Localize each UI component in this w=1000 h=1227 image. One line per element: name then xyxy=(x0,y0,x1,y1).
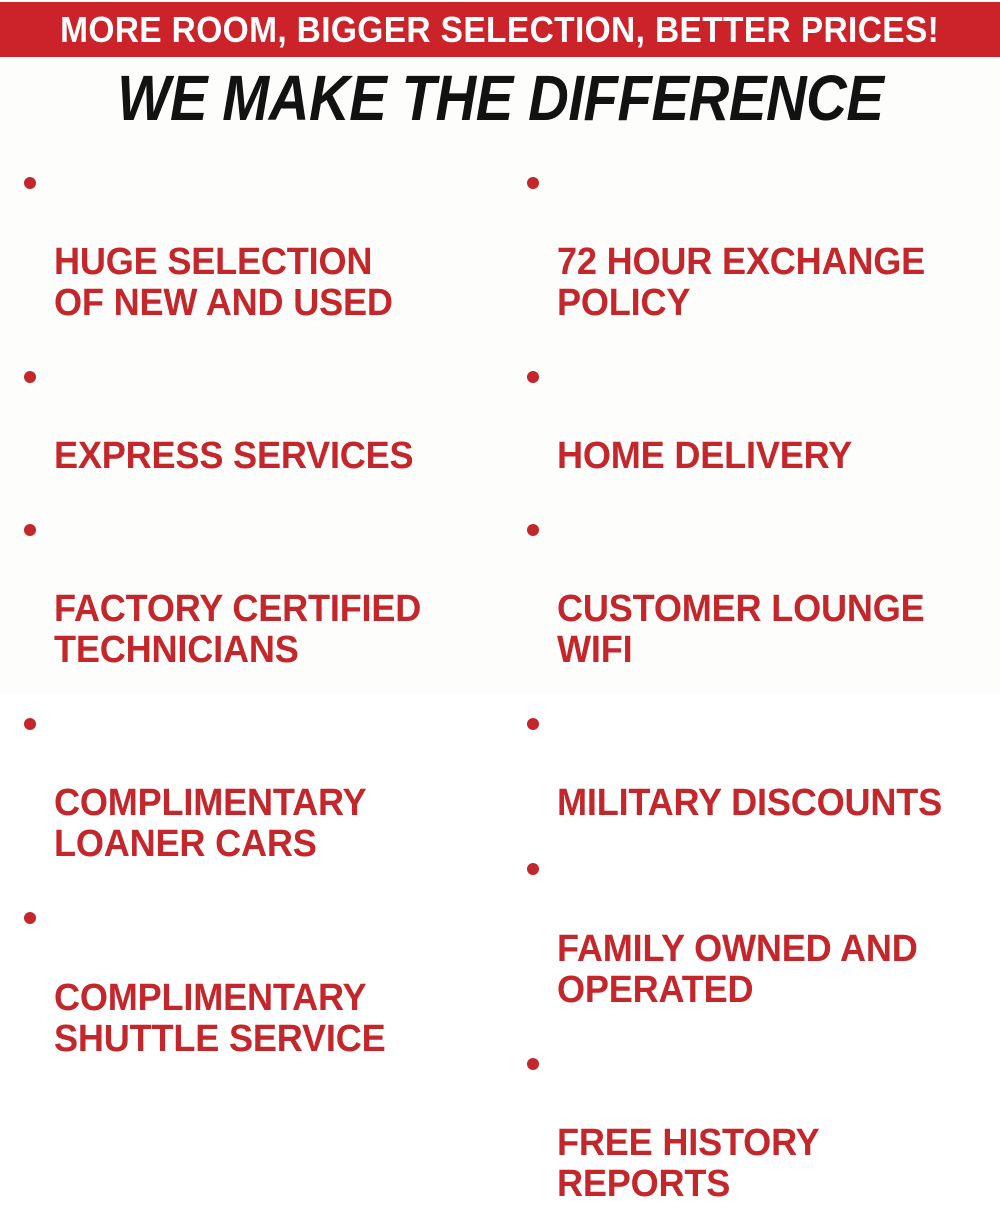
bullet-dot-icon xyxy=(527,1058,539,1070)
bullet-dot-icon xyxy=(527,863,539,875)
list-item: EXPRESS SERVICES xyxy=(16,354,501,477)
list-item: FAMILY OWNED AND OPERATED xyxy=(519,846,998,1010)
list-item: HOME DELIVERY xyxy=(519,354,998,477)
promo-banner: MORE ROOM, BIGGER SELECTION, BETTER PRIC… xyxy=(0,2,1000,57)
list-item: CUSTOMER LOUNGE WIFI xyxy=(519,507,998,671)
list-item-label: EXPRESS SERVICES xyxy=(54,436,413,477)
bullet-dot-icon xyxy=(527,524,539,536)
list-item: HUGE SELECTION OF NEW AND USED xyxy=(16,160,501,324)
list-item-label: HUGE SELECTION OF NEW AND USED xyxy=(54,242,393,324)
list-item-label: COMPLIMENTARY LOANER CARS xyxy=(54,783,366,865)
bullet-dot-icon xyxy=(24,524,36,536)
benefits-columns: HUGE SELECTION OF NEW AND USED EXPRESS S… xyxy=(0,160,1000,694)
bullet-dot-icon xyxy=(24,718,36,730)
list-item: FACTORY CERTIFIED TECHNICIANS xyxy=(16,507,501,671)
bullet-dot-icon xyxy=(527,177,539,189)
list-item-label: FACTORY CERTIFIED TECHNICIANS xyxy=(54,589,421,671)
list-item-label: FREE HISTORY REPORTS xyxy=(557,1123,819,1205)
list-item-label: FAMILY OWNED AND OPERATED xyxy=(557,929,918,1011)
list-item-label: HOME DELIVERY xyxy=(557,436,852,477)
list-item: COMPLIMENTARY SHUTTLE SERVICE xyxy=(16,895,501,1059)
list-item: COMPLIMENTARY LOANER CARS xyxy=(16,701,501,865)
bullet-dot-icon xyxy=(527,371,539,383)
list-item-label: 72 HOUR EXCHANGE POLICY xyxy=(557,242,925,324)
dealership-benefits-poster: MORE ROOM, BIGGER SELECTION, BETTER PRIC… xyxy=(0,0,1000,694)
bullet-dot-icon xyxy=(24,177,36,189)
bullet-dot-icon xyxy=(527,718,539,730)
list-item-label: MILITARY DISCOUNTS xyxy=(557,783,942,824)
promo-banner-text: MORE ROOM, BIGGER SELECTION, BETTER PRIC… xyxy=(60,12,939,48)
page-title: WE MAKE THE DIFFERENCE xyxy=(117,66,883,130)
bullet-dot-icon xyxy=(24,371,36,383)
list-item: MILITARY DISCOUNTS xyxy=(519,701,998,824)
list-item-label: COMPLIMENTARY SHUTTLE SERVICE xyxy=(54,978,385,1060)
headline-block: WE MAKE THE DIFFERENCE xyxy=(0,66,1000,130)
list-item: 72 HOUR EXCHANGE POLICY xyxy=(519,160,998,324)
benefits-column-left: HUGE SELECTION OF NEW AND USED EXPRESS S… xyxy=(0,160,505,1082)
benefits-column-right: 72 HOUR EXCHANGE POLICY HOME DELIVERY CU… xyxy=(505,160,1000,1227)
bullet-dot-icon xyxy=(24,912,36,924)
list-item-label: CUSTOMER LOUNGE WIFI xyxy=(557,589,925,671)
list-item: FREE HISTORY REPORTS xyxy=(519,1041,998,1205)
